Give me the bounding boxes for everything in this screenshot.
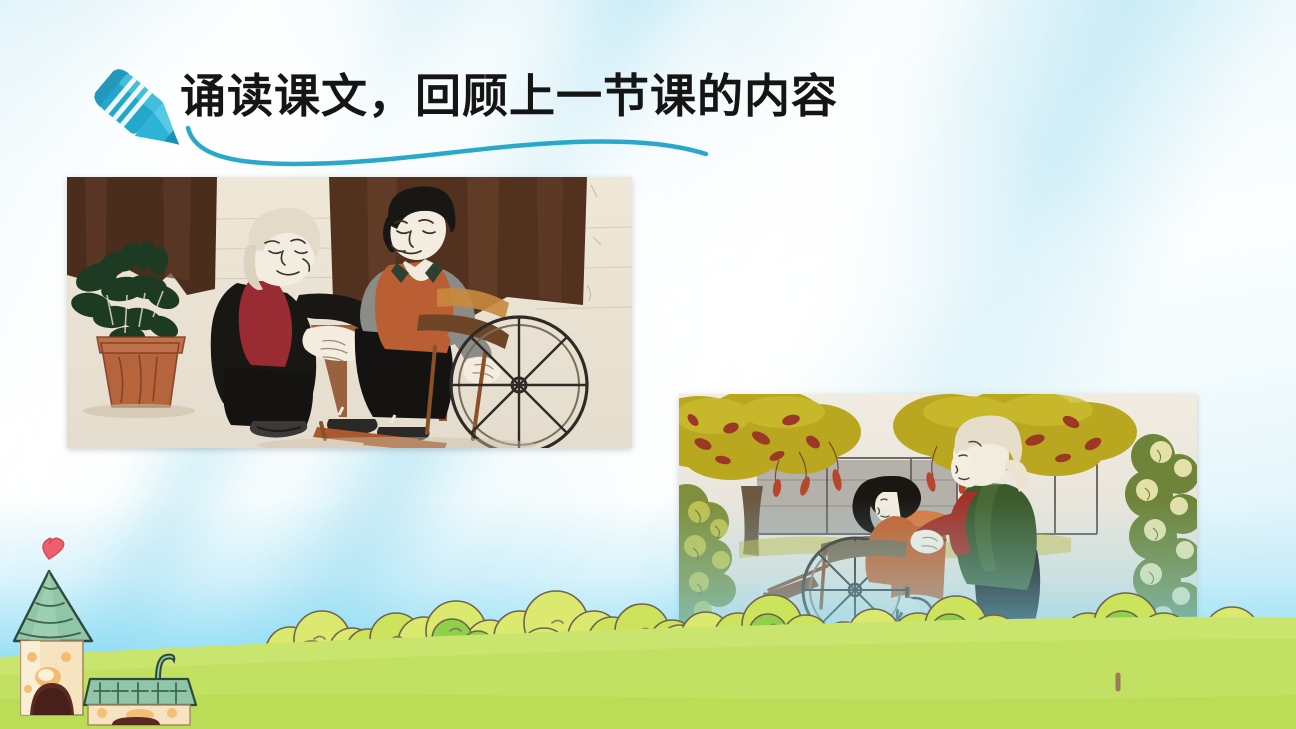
slide-header: 诵读课文，回顾上一节课的内容: [84, 58, 984, 168]
bottom-scenery: [0, 499, 1296, 729]
scenery-artwork: [0, 499, 1296, 729]
illustration-elderly-woman-and-boy-in-wheelchair[interactable]: [67, 177, 632, 448]
pencil-icon: [84, 62, 192, 158]
page-title: 诵读课文，回顾上一节课的内容: [180, 68, 838, 126]
illustration-1-artwork: [67, 177, 632, 448]
underline-swoosh-icon: [144, 120, 714, 172]
cartoon-house: [14, 538, 196, 725]
slide-canvas: 诵读课文，回顾上一节课的内容: [0, 0, 1296, 729]
